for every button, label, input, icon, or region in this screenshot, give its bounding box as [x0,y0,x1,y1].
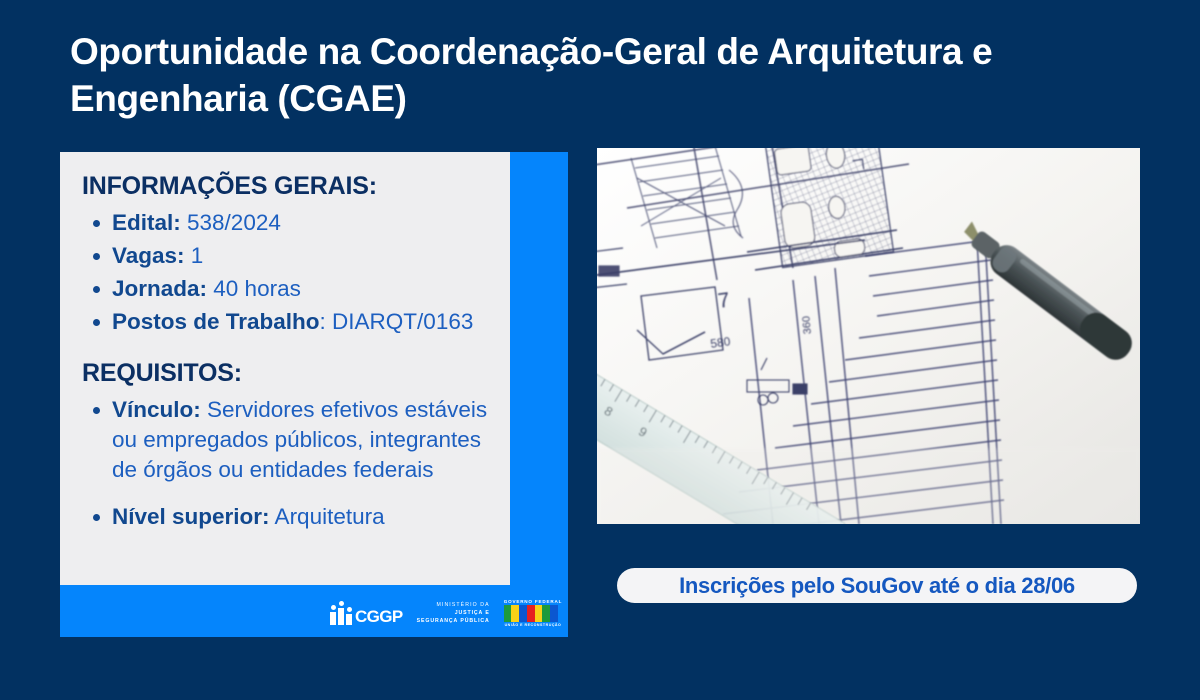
ministerio-line-3: SEGURANÇA PÚBLICA [417,617,490,625]
person-icon [346,607,352,625]
list-item-label: Nível superior: [112,504,270,529]
brasil-block-2 [519,605,527,622]
list-item: Jornada: 40 horas [82,274,494,304]
person-icon [338,601,344,625]
list-item-label: Jornada: [112,276,207,301]
brasil-block-1 [511,605,519,622]
list-item-value: 538/2024 [181,210,281,235]
cggp-wordmark: CGGP [355,608,403,625]
list-item: Vínculo: Servidores efetivos estáveis ou… [82,395,494,485]
list-item: Edital: 538/2024 [82,208,494,238]
card-accent-bar [510,152,568,585]
cggp-logo: CGGP [330,601,403,625]
ministerio-line-2: JUSTIÇA E [417,609,490,617]
requirements-heading: REQUISITOS: [82,359,494,388]
governo-federal-label: GOVERNO FEDERAL [504,599,562,604]
list-item: Postos de Trabalho: DIARQT/0163 [82,307,494,337]
list-item-label: Postos de Trabalho [112,309,320,334]
list-item-label: Edital: [112,210,181,235]
registration-banner: Inscrições pelo SouGov até o dia 28/06 [617,568,1137,603]
list-item-label: Vagas: [112,243,185,268]
blueprint-illustration: 7 580 360 [597,148,1140,524]
brasil-block-3 [527,605,535,622]
list-item-value: : DIARQT/0163 [320,309,474,334]
registration-banner-text: Inscrições pelo SouGov até o dia 28/06 [679,573,1075,599]
list-item-value: 40 horas [207,276,301,301]
ministerio-justica-logo: MINISTÉRIO DA JUSTIÇA E SEGURANÇA PÚBLIC… [417,601,490,625]
list-item: Nível superior: Arquitetura [82,502,494,532]
list-item-label: Vínculo: [112,397,201,422]
blueprint-photo: 7 580 360 [597,148,1140,524]
uniao-reconstrucao-label: UNIÃO E RECONSTRUÇÃO [504,623,562,627]
logo-row: CGGP MINISTÉRIO DA JUSTIÇA E SEGURANÇA P… [330,593,562,633]
brasil-block-5 [542,605,550,622]
page-title: Oportunidade na Coordenação-Geral de Arq… [70,28,1150,123]
general-info-heading: INFORMAÇÕES GERAIS: [82,172,494,201]
list-item: Vagas: 1 [82,241,494,271]
plan-dim-360: 360 [800,315,814,334]
requirements-list: Vínculo: Servidores efetivos estáveis ou… [82,395,494,533]
info-card: INFORMAÇÕES GERAIS: Edital: 538/2024 Vag… [60,152,510,585]
brasil-block-6 [550,605,558,622]
brasil-color-blocks [504,605,558,622]
people-icon [330,601,352,625]
general-info-list: Edital: 538/2024 Vagas: 1 Jornada: 40 ho… [82,208,494,337]
plan-number-580: 580 [709,334,731,351]
ministerio-line-1: MINISTÉRIO DA [417,601,490,609]
list-item-value: Arquitetura [270,504,385,529]
person-icon [330,605,336,625]
brasil-block-4 [535,605,543,622]
list-item-value: 1 [185,243,204,268]
governo-federal-logo: GOVERNO FEDERAL UNIÃO E RECONSTRUÇÃO [504,599,562,628]
poster-canvas: Oportunidade na Coordenação-Geral de Arq… [0,0,1200,700]
brasil-block-0 [504,605,512,622]
